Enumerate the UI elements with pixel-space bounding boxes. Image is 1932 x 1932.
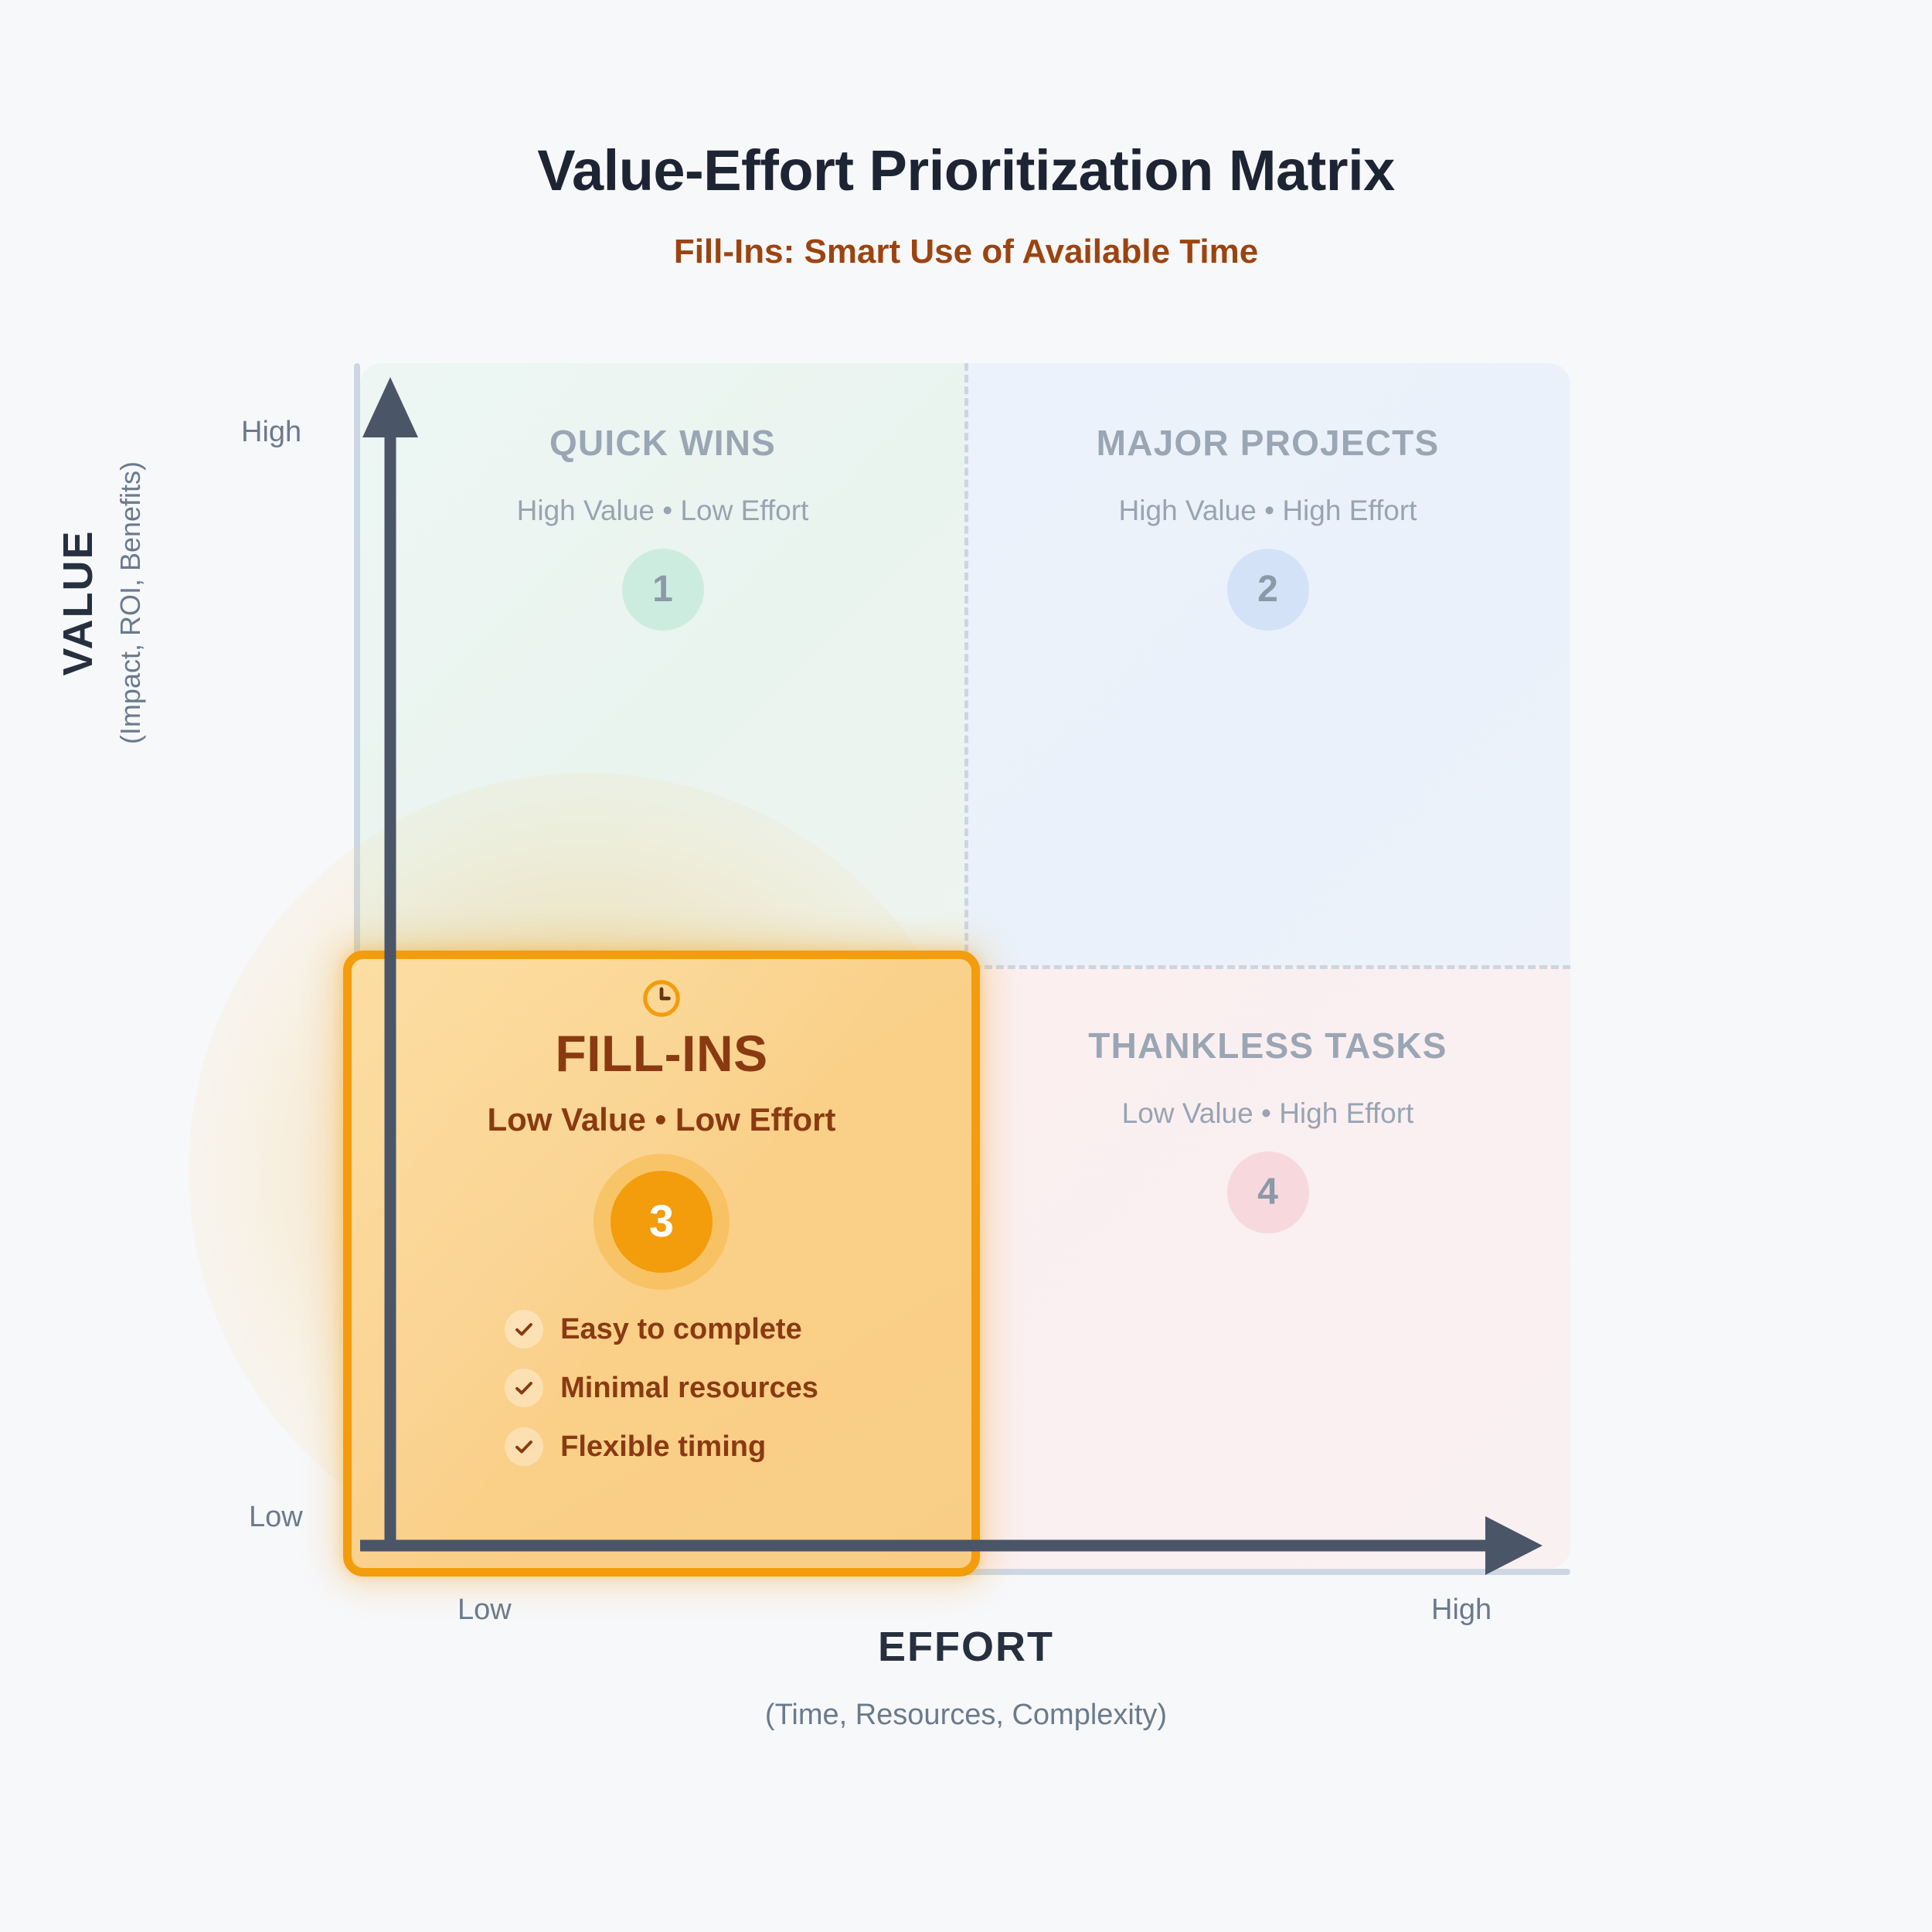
y-axis-title-main: VALUE [54, 461, 102, 744]
quadrant-quick-wins[interactable]: QUICK WINS High Value • Low Effort 1 [360, 363, 965, 966]
quadrant-number-badge: 2 [1227, 549, 1309, 631]
check-icon [505, 1310, 543, 1349]
y-axis-tick-high: High [241, 416, 301, 449]
quadrant-major-projects[interactable]: MAJOR PROJECTS High Value • High Effort … [965, 363, 1570, 966]
y-axis-title: VALUE (Impact, ROI, Benefits) [0, 0, 201, 1206]
quadrant-number-badge: 4 [1227, 1151, 1309, 1233]
quadrant-description: Low Value • High Effort [965, 1097, 1570, 1130]
page-title: Value-Effort Prioritization Matrix [0, 0, 1932, 203]
quadrant-number-badge-wrapper: 3 [594, 1154, 730, 1290]
x-axis-title: EFFORT (Time, Resources, Complexity) [0, 1623, 1932, 1732]
list-item: Easy to complete [505, 1310, 818, 1349]
quadrant-description: Low Value • Low Effort [352, 1101, 971, 1138]
x-axis-tick-high: High [1431, 1594, 1492, 1627]
prioritization-matrix: QUICK WINS High Value • Low Effort 1 MAJ… [360, 363, 1570, 1569]
quadrant-major-projects-content: MAJOR PROJECTS High Value • High Effort … [965, 363, 1570, 631]
y-axis-tick-low: Low [249, 1501, 303, 1534]
page-subtitle: Fill-Ins: Smart Use of Available Time [0, 203, 1932, 271]
quadrant-title: MAJOR PROJECTS [965, 422, 1570, 464]
quadrant-description: High Value • Low Effort [360, 495, 965, 527]
list-item: Flexible timing [505, 1427, 818, 1466]
quadrant-fill-ins-highlight[interactable]: FILL-INS Low Value • Low Effort 3 Easy t… [343, 951, 980, 1577]
list-item: Minimal resources [505, 1369, 818, 1407]
quadrant-quick-wins-content: QUICK WINS High Value • Low Effort 1 [360, 363, 965, 631]
quadrant-number-badge: 1 [622, 549, 704, 631]
quadrant-title: THANKLESS TASKS [965, 1025, 1570, 1066]
x-axis-title-main: EFFORT [0, 1623, 1932, 1671]
header: Value-Effort Prioritization Matrix Fill-… [0, 0, 1932, 271]
check-icon [505, 1369, 543, 1407]
x-axis-tick-low: Low [457, 1594, 512, 1627]
quadrant-thankless-tasks[interactable]: THANKLESS TASKS Low Value • High Effort … [965, 966, 1570, 1569]
quadrant-number-badge: 3 [611, 1171, 713, 1273]
list-item-label: Minimal resources [560, 1372, 818, 1405]
list-item-label: Flexible timing [560, 1430, 766, 1464]
quadrant-thankless-tasks-content: THANKLESS TASKS Low Value • High Effort … [965, 966, 1570, 1233]
quadrant-fill-ins-content: FILL-INS Low Value • Low Effort 3 Easy t… [352, 959, 971, 1486]
quadrant-title: QUICK WINS [360, 422, 965, 464]
fill-ins-bullet-list: Easy to complete Minimal resources Flexi… [505, 1310, 818, 1486]
list-item-label: Easy to complete [560, 1313, 802, 1346]
x-axis-title-sub: (Time, Resources, Complexity) [0, 1699, 1932, 1732]
clock-icon [641, 978, 682, 1019]
quadrant-description: High Value • High Effort [965, 495, 1570, 527]
y-axis-title-sub: (Impact, ROI, Benefits) [114, 461, 147, 744]
quadrant-title: FILL-INS [352, 1024, 971, 1083]
check-icon [505, 1427, 543, 1466]
